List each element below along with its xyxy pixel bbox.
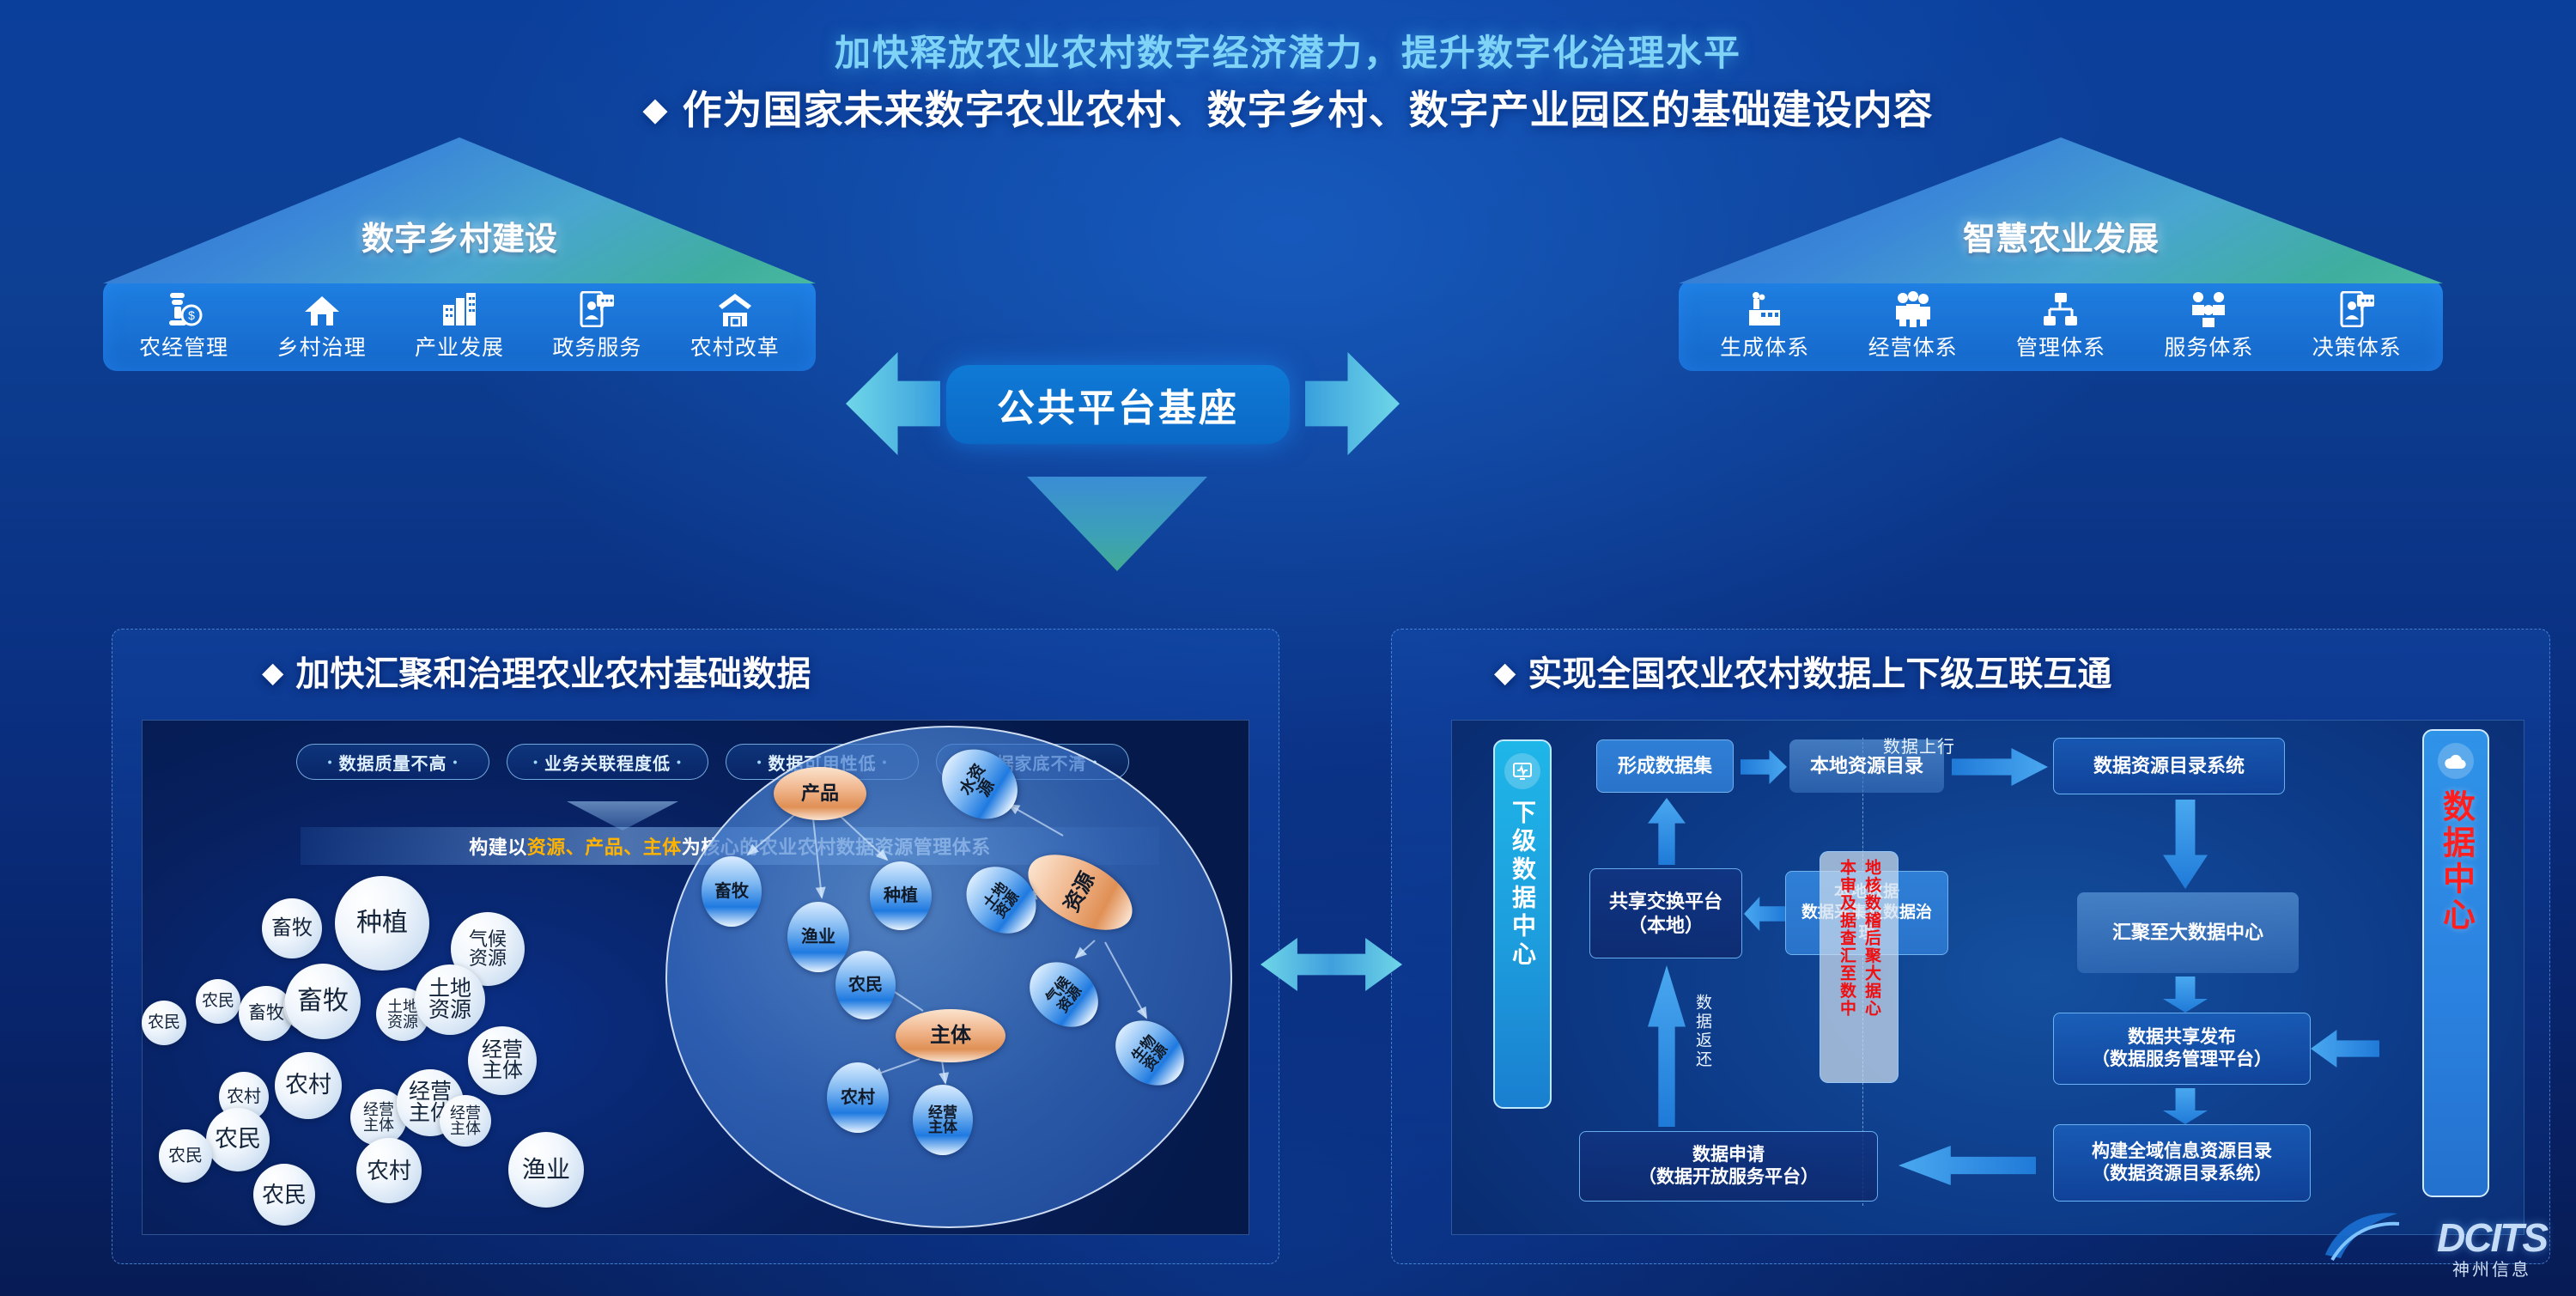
feature-label: 农经管理 (139, 331, 228, 362)
feature-label: 农村改革 (690, 331, 780, 362)
arrow-local-catalog-to-system (1952, 748, 2048, 786)
model-node: 主体 (896, 1009, 1005, 1062)
node-label: 经营主体 (928, 1105, 957, 1135)
flow-box-label: 数据申请（数据开放服务平台） (1638, 1144, 1819, 1190)
banner-prefix: 构建以 (469, 832, 527, 860)
data-center-bar[interactable]: 数据中心 (2422, 729, 2489, 1197)
lower-data-center-bar[interactable]: 下级数据中心 (1493, 739, 1552, 1109)
wing-left: 数字乡村建设 $ 农经管理 乡村治理 产业发展 政务服务 农村改革 (103, 137, 816, 371)
model-node: 农村 (827, 1062, 889, 1133)
scatter-bubble: 土地资源 (415, 964, 485, 1035)
node-label: 生物资源 (1129, 1032, 1170, 1074)
feature-rural-governance[interactable]: 乡村治理 (270, 289, 374, 362)
buildings-icon (440, 289, 478, 327)
node-label: 土地资源 (981, 879, 1022, 921)
arrow-to-left-wing (846, 352, 940, 455)
pill-dot-icon: • (453, 755, 459, 769)
page-subtitle-text: 作为国家未来数字农业农村、数字乡村、数字产业园区的基础建设内容 (683, 88, 1934, 132)
feature-label: 产业发展 (415, 331, 504, 362)
flow-box-build-catalog[interactable]: 构建全域信息资源目录（数据资源目录系统） (2053, 1124, 2311, 1202)
feature-decision-system[interactable]: 决策体系 (2306, 289, 2409, 362)
bubble-label: 农民 (148, 1014, 180, 1031)
bullet-diamond-icon: ◆ (262, 656, 283, 688)
flow-box-share-publish[interactable]: 数据共享发布（数据服务管理平台） (2053, 1013, 2311, 1085)
arrow-form-dataset-to-local-catalog (1741, 750, 1787, 784)
organized-data-model: 产品水资源资源畜牧种植土地资源渔业农民气候资源主体生物资源农村经营主体 (665, 726, 1232, 1228)
model-node: 经营主体 (913, 1085, 973, 1155)
brand-logo-mark: DCITS (2437, 1214, 2547, 1261)
bubble-label: 渔业 (522, 1158, 570, 1183)
left-panel-heading: ◆加快汇聚和治理农业农村基础数据 (262, 646, 811, 696)
model-node: 畜牧 (702, 856, 762, 927)
bubble-label: 农民 (262, 1183, 307, 1207)
flow-box-label: 本地资源目录 (1810, 754, 1923, 778)
mobile-service-icon (2338, 289, 2376, 327)
bubble-label: 经营主体 (482, 1040, 523, 1082)
brand-logo: DCITS 神州信息 (2437, 1214, 2547, 1281)
wing-left-roof (103, 137, 816, 283)
red-process-note: 地核数稽后聚大据心 本审及据查汇至数中 (1820, 851, 1899, 1083)
flow-box-label: 数据共享发布（数据服务管理平台） (2092, 1026, 2272, 1072)
model-node: 产品 (774, 767, 866, 820)
cloud-icon (2438, 743, 2474, 779)
bubble-label: 土地资源 (387, 999, 418, 1031)
bubble-label: 经营主体 (363, 1102, 394, 1134)
scatter-bubble: 畜牧 (262, 898, 322, 958)
banner-highlight: 资源、产品、主体 (527, 832, 682, 860)
house-icon (303, 289, 341, 327)
node-label: 农民 (848, 977, 883, 994)
bubble-label: 农民 (168, 1147, 203, 1165)
bubble-label: 经营主体 (450, 1105, 481, 1137)
problem-pill-0[interactable]: •数据质量不高• (296, 744, 489, 780)
node-label: 水资源 (957, 762, 1002, 806)
node-label: 主体 (930, 1025, 971, 1046)
flow-label-data-upstream: 数据上行 (1883, 733, 1955, 758)
node-label: 种植 (884, 887, 918, 904)
factory-icon (1746, 289, 1783, 327)
bullet-diamond-icon: ◆ (642, 92, 668, 128)
scatter-bubble: 农民 (142, 1001, 186, 1045)
arrow-center-to-publish (2311, 1030, 2379, 1068)
feature-label: 生成体系 (1720, 331, 1809, 362)
scatter-bubble: 农村 (275, 1052, 342, 1119)
mobile-service-icon (578, 289, 616, 327)
scatter-bubble: 畜牧 (285, 964, 361, 1039)
org-chart-icon (2042, 289, 2080, 327)
arrow-collect-to-share (1744, 897, 1785, 931)
flow-box-form-dataset[interactable]: 形成数据集 (1596, 739, 1734, 793)
bubble-label: 种植 (356, 910, 408, 937)
arrow-publish-to-build (2163, 1088, 2208, 1124)
feature-agri-economy[interactable]: $ 农经管理 (132, 289, 235, 362)
arrow-system-to-gather (2163, 800, 2208, 889)
flow-box-catalog-system[interactable]: 数据资源目录系统 (2053, 738, 2285, 794)
feature-rural-reform[interactable]: 农村改革 (683, 289, 787, 362)
feature-label: 管理体系 (2016, 331, 2105, 362)
scatter-bubble: 农民 (159, 1129, 212, 1183)
bullet-diamond-icon: ◆ (1494, 656, 1516, 688)
feature-production-system[interactable]: 生成体系 (1713, 289, 1816, 362)
left-panel-heading-text: 加快汇聚和治理农业农村基础数据 (295, 655, 811, 693)
scatter-bubble: 农村 (356, 1138, 422, 1203)
model-node: 农民 (835, 951, 896, 1019)
wing-left-title: 数字乡村建设 (103, 212, 816, 259)
bubble-label: 气候资源 (469, 930, 507, 969)
flow-box-label: 数据资源目录系统 (2093, 754, 2245, 778)
bidirectional-link-arrow (1261, 938, 1402, 991)
flow-box-share-exchange[interactable]: 共享交换平台（本地） (1589, 868, 1742, 958)
node-label: 气候资源 (1043, 974, 1084, 1015)
flow-box-data-apply[interactable]: 数据申请（数据开放服务平台） (1579, 1131, 1878, 1202)
bubble-label: 畜牧 (248, 1004, 284, 1022)
node-label: 畜牧 (714, 883, 749, 900)
node-label: 渔业 (801, 928, 835, 946)
bubble-label: 农村 (227, 1088, 261, 1105)
infographic-canvas: 加快释放农业农村数字经济潜力，提升数字化治理水平 ◆作为国家未来数字农业农村、数… (0, 0, 2576, 1296)
feature-operation-system[interactable]: 经营体系 (1862, 289, 1965, 362)
lower-data-center-label: 下级数据中心 (1505, 800, 1540, 970)
feature-industry-development[interactable]: 产业发展 (408, 289, 511, 362)
money-stack-icon: $ (165, 289, 203, 327)
feature-management-system[interactable]: 管理体系 (2009, 289, 2112, 362)
farm-gate-icon (716, 289, 754, 327)
pill-dot-icon: • (328, 755, 333, 769)
right-panel-heading: ◆实现全国农业农村数据上下级互联互通 (1494, 646, 2111, 696)
pill-label: 业务关联程度低 (544, 750, 671, 775)
page-title: 加快释放农业农村数字经济潜力，提升数字化治理水平 (0, 24, 2576, 76)
scatter-bubble: 农民 (196, 979, 240, 1024)
scatter-bubble: 农民 (206, 1108, 270, 1171)
right-panel-heading-text: 实现全国农业农村数据上下级互联互通 (1528, 655, 2111, 693)
arrow-share-to-dataset (1648, 798, 1686, 865)
arrow-gather-to-publish (2163, 977, 2208, 1013)
flow-box-gather-bigdata[interactable]: 汇聚至大数据中心 (2077, 892, 2299, 973)
node-label: 产品 (801, 784, 839, 803)
bubble-label: 农村 (285, 1074, 331, 1098)
right-flow-stage: 下级数据中心 数据中心 形成数据集本地资源目录数据资源目录系统共享交换平台（本地… (1451, 720, 2524, 1235)
flow-box-label: 汇聚至大数据中心 (2112, 921, 2263, 945)
bubble-label: 农民 (215, 1128, 261, 1152)
data-center-label: 数据中心 (2433, 789, 2480, 934)
brand-swoosh-icon (2322, 1205, 2404, 1265)
arrow-build-to-apply (1899, 1146, 2036, 1185)
bubble-label: 畜牧 (297, 989, 349, 1015)
people-group-icon (1894, 289, 1932, 327)
bubble-label: 土地资源 (428, 978, 471, 1022)
brand-logo-cn: 神州信息 (2437, 1256, 2547, 1281)
scatter-bubble: 经营主体 (468, 1026, 537, 1095)
feature-label: 服务体系 (2164, 331, 2253, 362)
flow-box-label: 构建全域信息资源目录（数据资源目录系统） (2092, 1141, 2272, 1186)
node-label: 资源 (1061, 869, 1099, 916)
team-service-icon (2190, 289, 2227, 327)
arrow-down-to-panels (1027, 477, 1207, 571)
red-note-col-right: 地核数稽后聚大据心 (1860, 859, 1883, 1075)
page-subtitle: ◆作为国家未来数字农业农村、数字乡村、数字产业园区的基础建设内容 (0, 79, 2576, 136)
scatter-bubble: 农民 (253, 1164, 315, 1226)
scatter-bubble: 渔业 (508, 1132, 584, 1208)
bubble-label: 畜牧 (271, 918, 313, 939)
monitor-pulse-icon (1504, 753, 1540, 789)
bubble-label: 农村 (367, 1159, 411, 1183)
feature-label: 决策体系 (2312, 331, 2402, 362)
pill-label: 数据质量不高 (339, 750, 447, 775)
feature-government-service[interactable]: 政务服务 (545, 289, 648, 362)
scatter-bubble: 经营主体 (440, 1095, 491, 1147)
wing-right-features: 生成体系 经营体系 管理体系 服务体系 决策体系 (1679, 280, 2443, 371)
node-label: 农村 (841, 1089, 875, 1106)
flow-label-data-return: 数据返还 (1691, 994, 1714, 1069)
pill-dot-icon: • (533, 755, 538, 769)
arrow-to-right-wing (1305, 352, 1400, 455)
scatter-bubble: 种植 (335, 876, 429, 970)
feature-service-system[interactable]: 服务体系 (2157, 289, 2260, 362)
flow-box-label: 形成数据集 (1618, 754, 1712, 778)
platform-base-badge[interactable]: 公共平台基座 (946, 365, 1290, 444)
model-node: 渔业 (787, 902, 849, 972)
wing-right-roof (1679, 137, 2443, 283)
feature-label: 政务服务 (552, 331, 641, 362)
feature-label: 经营体系 (1868, 331, 1958, 362)
wing-right: 智慧农业发展 生成体系 经营体系 管理体系 服务体系 决策体系 (1679, 137, 2443, 371)
model-node: 种植 (870, 861, 932, 930)
bubble-label: 农民 (202, 993, 234, 1009)
wing-right-title: 智慧农业发展 (1679, 212, 2443, 259)
flow-box-label: 共享交换平台（本地） (1609, 890, 1722, 937)
feature-label: 乡村治理 (277, 331, 367, 362)
arrow-apply-to-share (1648, 965, 1686, 1127)
red-note-col-left: 本审及据查汇至数中 (1835, 859, 1858, 1075)
wing-left-features: $ 农经管理 乡村治理 产业发展 政务服务 农村改革 (103, 280, 816, 371)
svg-text:$: $ (188, 308, 195, 322)
